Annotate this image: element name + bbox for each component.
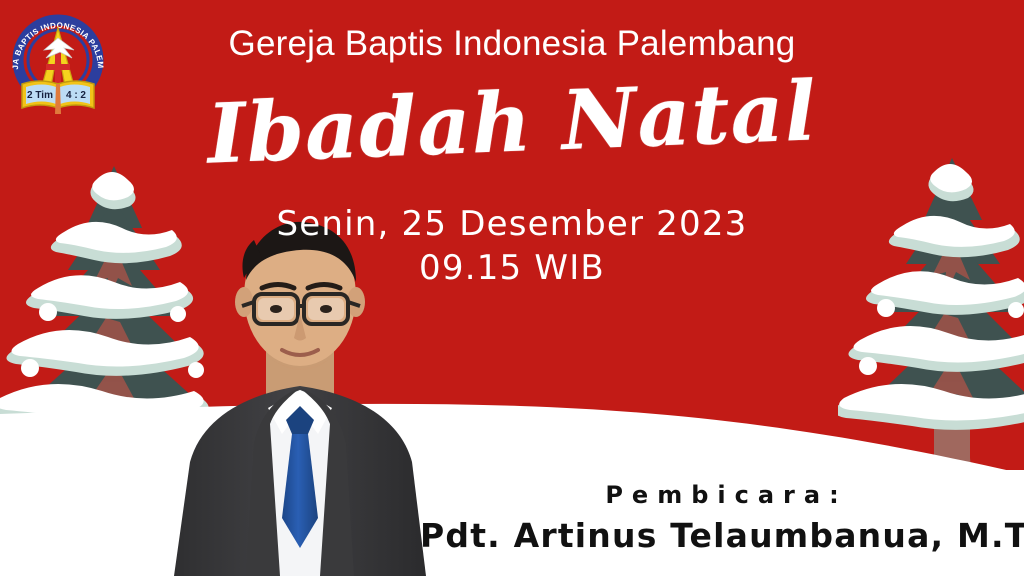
event-date: Senin, 25 Desember 2023: [0, 204, 1024, 244]
speaker-name: Pdt. Artinus Telaumbanua, M.Th: [420, 518, 1024, 554]
christmas-service-poster: GEREJA BAPTIS INDONESIA PALEMBANG 2 Tim …: [0, 0, 1024, 576]
event-time: 09.15 WIB: [0, 248, 1024, 288]
church-name-heading: Gereja Baptis Indonesia Palembang: [0, 24, 1024, 64]
speaker-block: Pembicara: Pdt. Artinus Telaumbanua, M.T…: [420, 482, 1024, 555]
speaker-label: Pembicara:: [420, 482, 1024, 508]
